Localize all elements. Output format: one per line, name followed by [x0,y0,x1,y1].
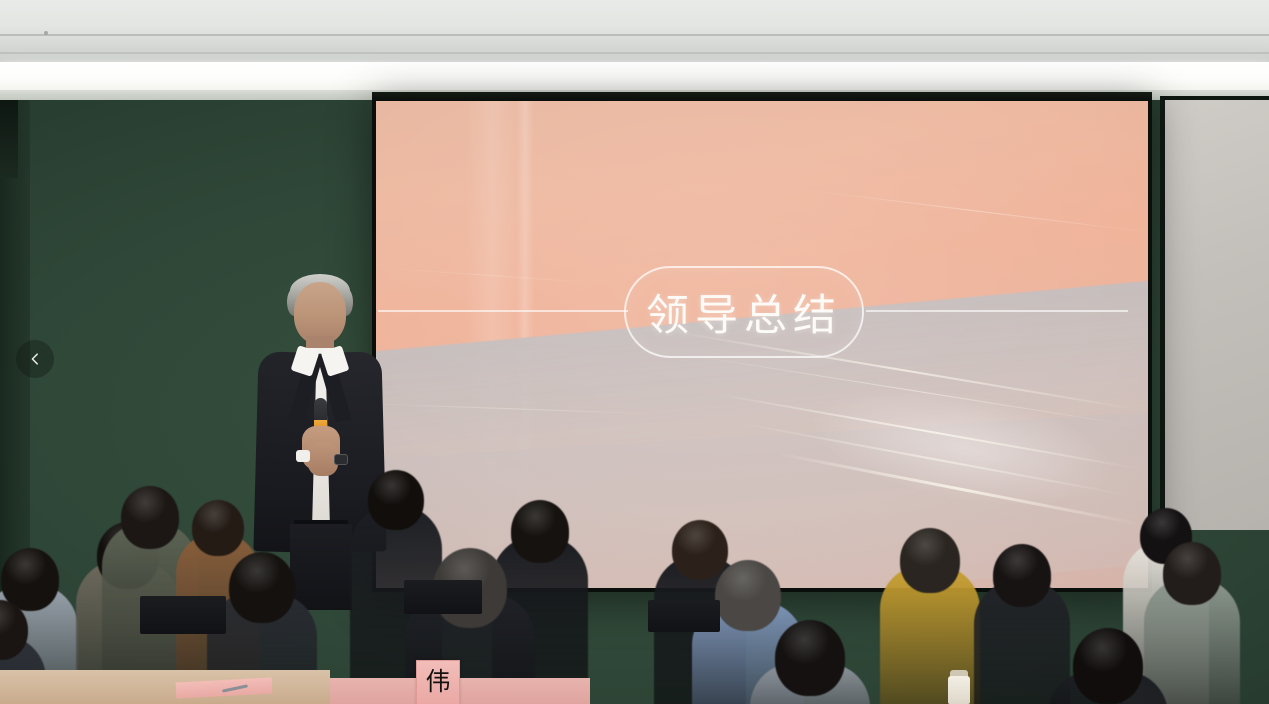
slide-divider-line-left [378,310,628,312]
audience-head [993,544,1051,607]
water-bottle [948,676,970,704]
chevron-left-icon [27,351,43,367]
laptop [140,596,226,634]
desk-front-left [0,670,330,704]
left-board-edge [0,100,18,178]
audience-head [229,552,295,623]
speaker-shirt-cuff [296,450,310,462]
ceiling-light-strip [0,62,1269,92]
audience-head [1163,542,1221,605]
slide-title-pill: 领导总结 [624,266,864,358]
audience-head [900,528,960,593]
laptop [648,600,720,632]
slide-light-streak [801,189,1148,233]
audience-head [192,500,244,556]
desk-pink-front [330,678,590,704]
audience-head [1073,628,1143,704]
nameplate-text: 伟 [425,669,450,694]
ceiling [0,0,1269,70]
audience-member [750,620,870,704]
audience-head [775,620,845,696]
projection-screen-top-bar [372,92,1152,101]
slide-title: 领导总结 [646,281,842,343]
ceiling-screw [44,31,48,35]
slide-light-streak [376,267,607,284]
right-whiteboard-panel [1160,96,1269,530]
audience-head [368,470,424,530]
previous-button[interactable] [16,340,54,378]
speaker-head [294,282,346,344]
audience-head [121,486,179,549]
laptop [404,580,482,614]
slide-divider-line-right [866,310,1128,312]
ceiling-seam [0,52,1269,54]
presentation-photo: 领导总结 伟 [0,0,1269,704]
nameplate: 伟 [416,660,460,704]
speaker-wristwatch [334,454,348,465]
audience-member [1048,628,1168,704]
ceiling-seam [0,34,1269,36]
